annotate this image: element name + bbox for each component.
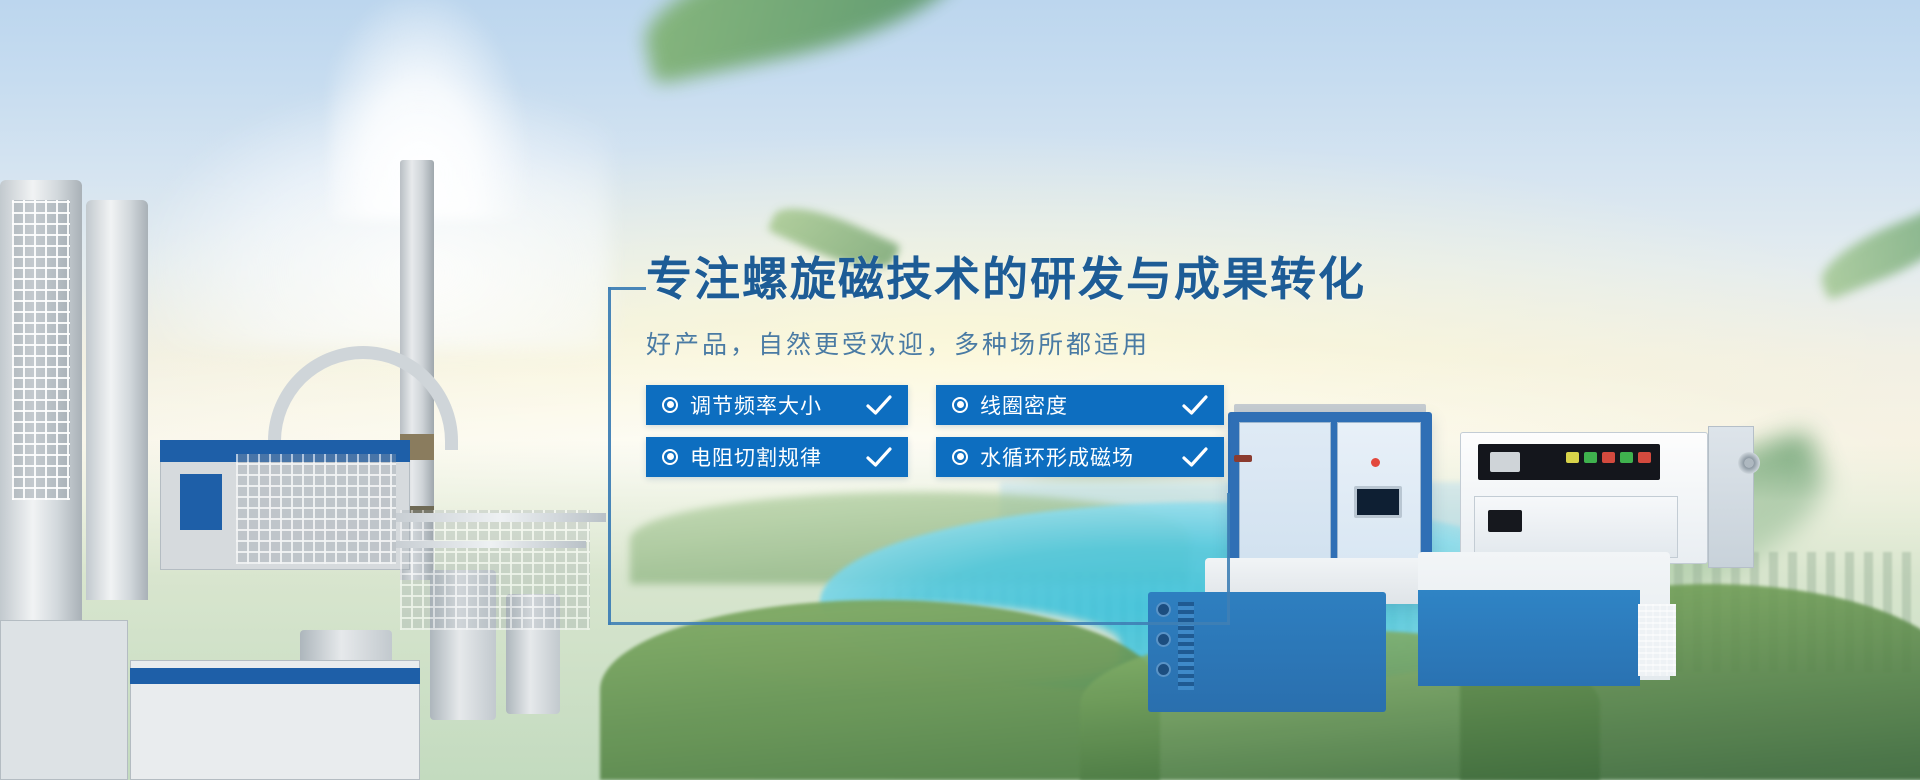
plant-panel [180,474,222,530]
oven-side-panel [1708,426,1754,568]
cabinet-display-screen [1354,486,1402,518]
oven-display [1488,510,1522,532]
feature-tag-coil-density[interactable]: 线圈密度 [936,385,1224,425]
feature-tag-row: 电阻切割规律 水循环形成磁场 [646,437,1366,477]
industrial-plant [0,80,700,780]
radio-filled-icon [662,397,678,413]
hero-subtitle: 好产品，自然更受欢迎，多种场所都适用 [646,325,1366,361]
check-icon [866,447,892,467]
pipe [396,541,586,548]
pipe [396,513,606,522]
feature-tag-adjust-frequency[interactable]: 调节频率大小 [646,385,908,425]
ladder-lattice [12,200,70,500]
feature-tag-resistance-law[interactable]: 电阻切割规律 [646,437,908,477]
hero-title: 专注螺旋磁技术的研发与成果转化 [646,254,1366,305]
leaf-decoration-icon [1812,202,1920,301]
radio-filled-icon [952,449,968,465]
storage-silo [86,200,148,600]
check-icon [866,395,892,415]
plant-blue-band [130,668,420,684]
feature-tag-water-cycle-magnetic-field[interactable]: 水循环形成磁场 [936,437,1224,477]
feature-tag-row: 调节频率大小 线圈密度 [646,385,1366,425]
check-icon [1182,447,1208,467]
hero-text-block: 专注螺旋磁技术的研发与成果转化 好产品，自然更受欢迎，多种场所都适用 调节频率大… [646,254,1366,489]
feature-tag-label: 水循环形成磁场 [980,442,1134,472]
plant-shed [0,620,128,780]
plant-grating [236,454,396,564]
feature-tag-list: 调节频率大小 线圈密度 电阻切割规律 水循环形成磁场 [646,385,1366,477]
feature-tag-label: 调节频率大小 [690,390,822,420]
feature-tag-label: 线圈密度 [980,390,1068,420]
leaf-decoration-icon [633,0,977,85]
vent-grill [1638,604,1676,676]
feature-tag-label: 电阻切割规律 [690,442,822,472]
radio-filled-icon [952,397,968,413]
vent-grill [1178,602,1194,690]
status-led-icon [1371,458,1380,467]
radio-filled-icon [662,449,678,465]
fan-icon [1738,452,1760,474]
blue-machine-body [1418,590,1640,686]
check-icon [1182,395,1208,415]
hero-banner: 专注螺旋磁技术的研发与成果转化 好产品，自然更受欢迎，多种场所都适用 调节频率大… [0,0,1920,780]
pipe-rack [400,510,590,630]
